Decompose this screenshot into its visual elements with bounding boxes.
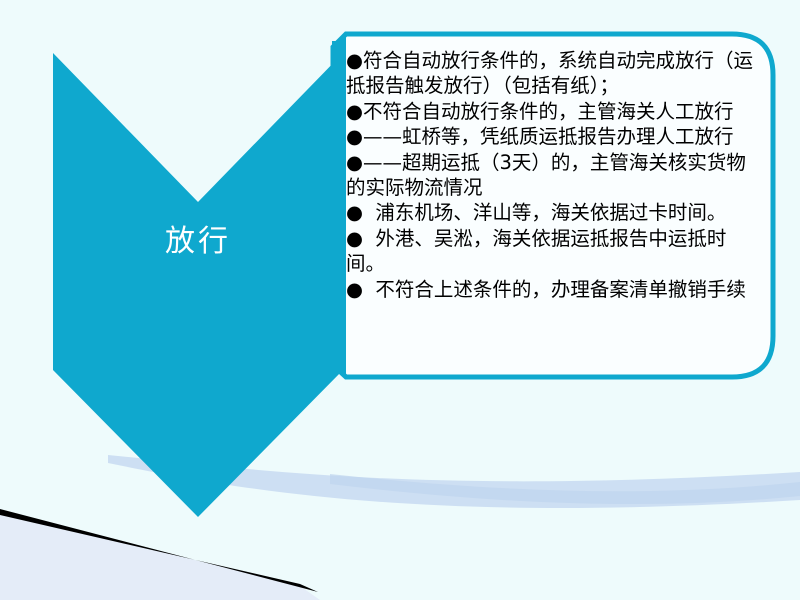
chevron-label: 放行 (53, 225, 343, 259)
bullet-item: ● 浦东机场、洋山等，海关依据过卡时间。 (346, 200, 760, 225)
callout-text-body: ●符合自动放行条件的，系统自动完成放行（运抵报告触发放行）（包括有纸）； ●不符… (346, 48, 760, 363)
bullet-item: ●——超期运抵（3天）的，主管海关核实货物的实际物流情况 (346, 150, 760, 201)
slide-canvas: 放行 ●符合自动放行条件的，系统自动完成放行（运抵报告触发放行）（包括有纸）； … (0, 0, 800, 600)
bullet-item: ●——虹桥等，凭纸质运抵报告办理人工放行 (346, 124, 760, 149)
bullet-item: ● 不符合上述条件的，办理备案清单撤销手续 (346, 277, 760, 302)
bullet-item: ●不符合自动放行条件的，主管海关人工放行 (346, 99, 760, 124)
callout-left-band-fill (332, 41, 346, 371)
bullet-item: ● 外港、吴淞，海关依据运抵报告中运抵时间。 (346, 226, 760, 277)
chevron-polygon (53, 53, 343, 517)
bullet-item: ●符合自动放行条件的，系统自动完成放行（运抵报告触发放行）（包括有纸）； (346, 48, 760, 99)
callout-box: ●符合自动放行条件的，系统自动完成放行（运抵报告触发放行）（包括有纸）； ●不符… (330, 31, 776, 380)
